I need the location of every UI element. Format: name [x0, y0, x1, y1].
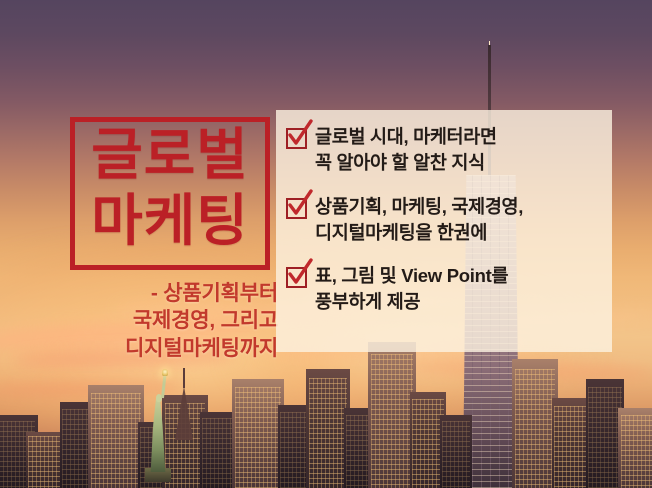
statue-arm: [161, 374, 166, 398]
building: [88, 385, 144, 488]
chrysler-building-spire: [175, 386, 193, 440]
list-item-label: 상품기획, 마케팅, 국제경영, 디지털마케팅을 한권에: [315, 194, 523, 247]
subtitle: - 상품기획부터 국제경영, 그리고 디지털마케팅까지: [62, 280, 278, 362]
list-item: 표, 그림 및 View Point를 풍부하게 제공: [286, 263, 604, 316]
promo-banner: 글로벌 마케팅 - 상품기획부터 국제경영, 그리고 디지털마케팅까지 글로벌 …: [0, 0, 652, 488]
list-item-label: 표, 그림 및 View Point를 풍부하게 제공: [315, 263, 508, 316]
list-item-label: 글로벌 시대, 마케터라면 꼭 알아야 할 알찬 지식: [315, 124, 497, 177]
list-item: 상품기획, 마케팅, 국제경영, 디지털마케팅을 한권에: [286, 194, 604, 247]
statue-torch: [162, 369, 168, 376]
building: [232, 379, 284, 488]
feature-panel: 글로벌 시대, 마케터라면 꼭 알아야 할 알찬 지식 상품기획, 마케팅, 국…: [276, 110, 612, 352]
checkbox-checked-icon: [286, 128, 307, 149]
statue-of-liberty: [141, 364, 175, 482]
title-block: 글로벌 마케팅 - 상품기획부터 국제경영, 그리고 디지털마케팅까지: [62, 108, 278, 360]
checkbox-checked-icon: [286, 267, 307, 288]
page-title: 글로벌 마케팅: [62, 122, 278, 254]
list-item: 글로벌 시대, 마케터라면 꼭 알아야 할 알찬 지식: [286, 124, 604, 177]
building: [368, 342, 416, 488]
statue-robe: [150, 398, 166, 472]
feature-list: 글로벌 시대, 마케터라면 꼭 알아야 할 알찬 지식 상품기획, 마케팅, 국…: [286, 124, 604, 316]
checkbox-checked-icon: [286, 198, 307, 219]
building: [440, 415, 472, 488]
building: [618, 408, 652, 488]
